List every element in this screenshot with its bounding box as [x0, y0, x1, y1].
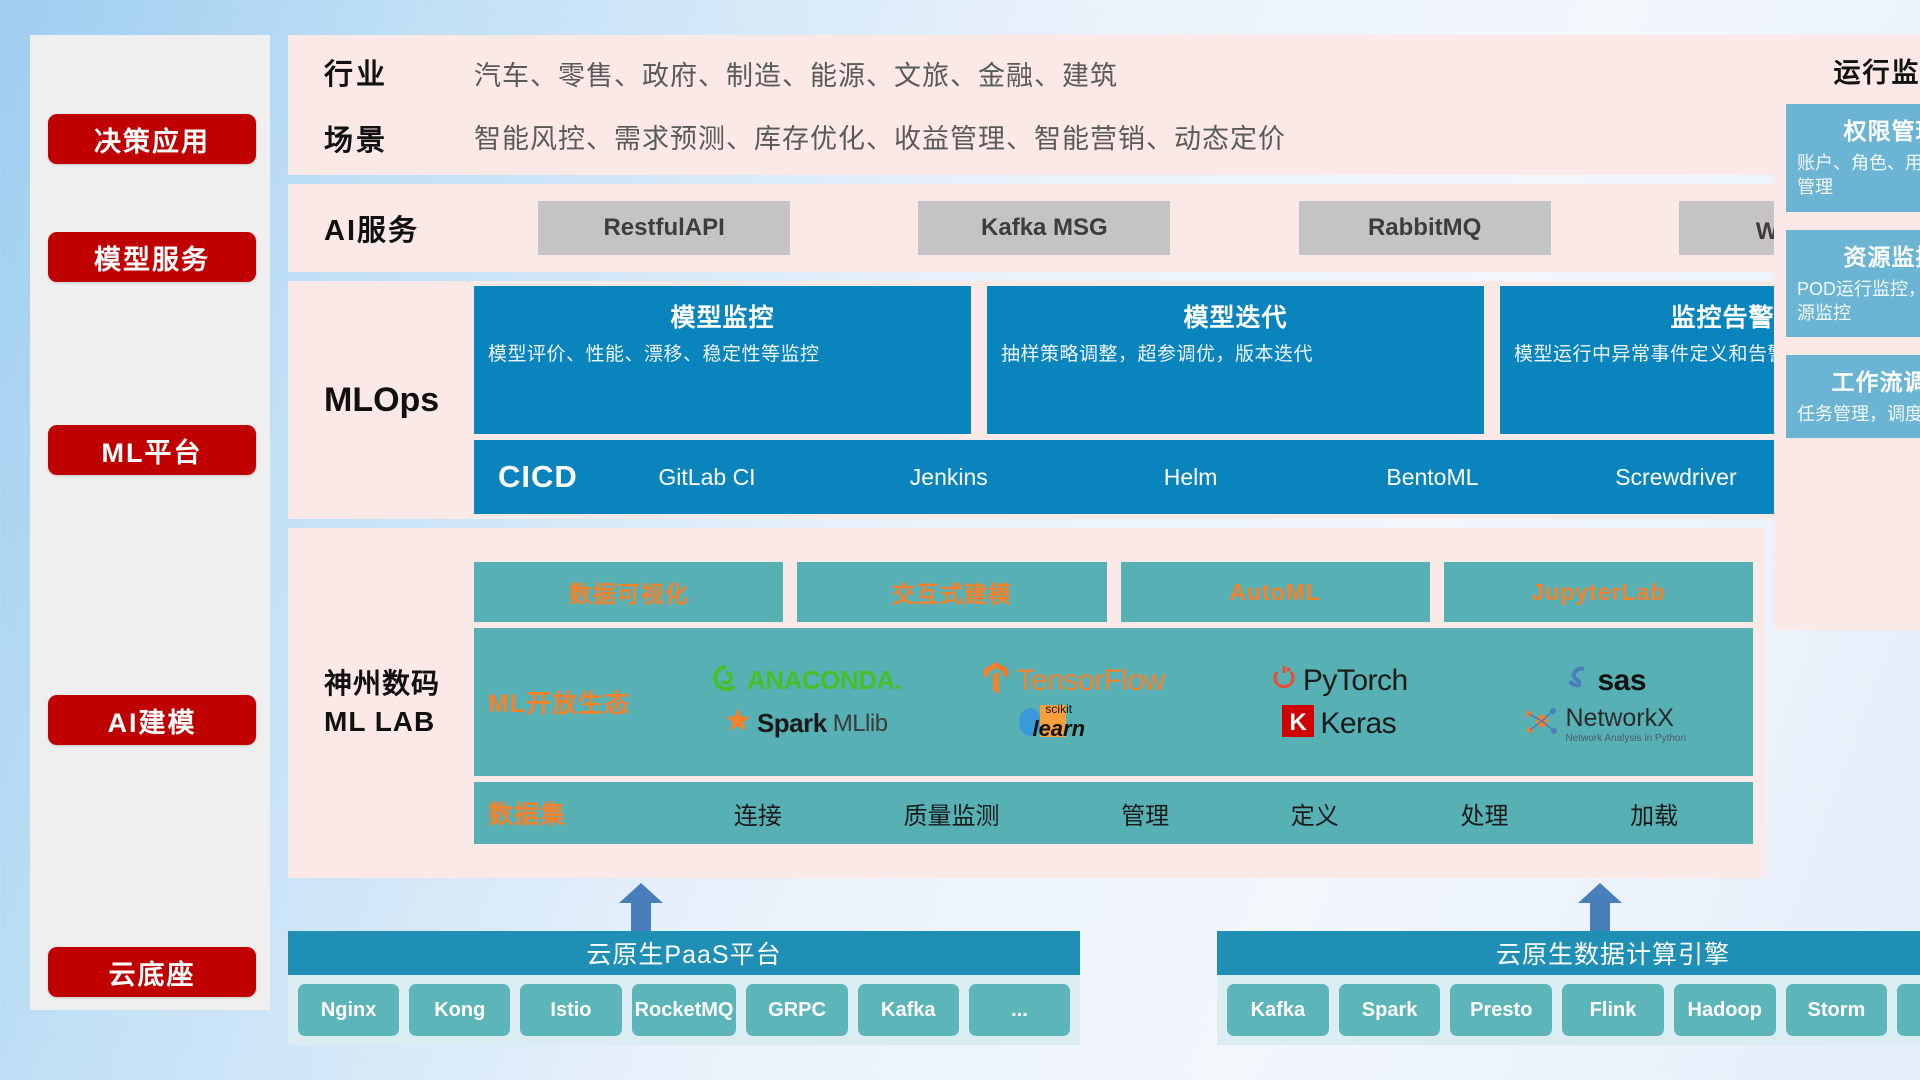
cicd-item-gitlab-ci[interactable]: GitLab CI: [648, 464, 766, 490]
logo-label: MLlib: [833, 710, 888, 738]
logo-label: PyTorch: [1303, 664, 1408, 698]
cicd-item-jenkins[interactable]: Jenkins: [890, 464, 1008, 490]
chip-label: Kafka: [881, 999, 935, 1021]
mlops-card-title: 模型迭代: [1001, 298, 1470, 334]
keras-icon: K: [1282, 705, 1314, 742]
dataset-item-process[interactable]: 处理: [1460, 796, 1508, 831]
layer-rail: 决策应用 模型服务 ML平台 AI建模 云底座: [30, 35, 270, 1010]
sas-icon: [1565, 663, 1591, 698]
monitor-card-desc: 任务管理，调度，监控: [1797, 402, 1920, 426]
logo-keras: K Keras: [1282, 705, 1396, 742]
engine-chip-presto[interactable]: Presto: [1450, 984, 1552, 1036]
cicd-item-screwdriver[interactable]: Screwdriver: [1615, 464, 1733, 490]
monitor-card-desc: 账户、角色、用户组等管理: [1797, 151, 1920, 200]
scenario-value: 智能风控、需求预测、库存优化、收益管理、智能营销、动态定价: [474, 117, 1286, 156]
logo-prefix: scikit: [1045, 702, 1072, 716]
paas-chip-grpc[interactable]: GRPC: [746, 984, 847, 1036]
ai-service-button-rabbitmq[interactable]: RabbitMQ: [1299, 201, 1551, 255]
logo-label: learn: [1032, 716, 1085, 742]
monitor-card-permission[interactable]: 权限管理 账户、角色、用户组等管理: [1786, 104, 1920, 212]
ai-btn-label: RestfulAPI: [603, 214, 724, 242]
paas-title: 云原生PaaS平台: [288, 931, 1080, 975]
rail-item-model-service[interactable]: 模型服务: [48, 232, 256, 282]
rail-item-cloud-base[interactable]: 云底座: [48, 947, 256, 997]
engine-chip-kafka[interactable]: Kafka: [1227, 984, 1329, 1036]
industry-label: 行业: [324, 51, 474, 93]
engine-title: 云原生数据计算引擎: [1217, 931, 1920, 975]
paas-chip-rocketmq[interactable]: RocketMQ: [632, 984, 737, 1036]
chip-label: GRPC: [768, 999, 826, 1021]
ml-ecosystem-label: ML开放生态: [488, 684, 673, 720]
cicd-item-helm[interactable]: Helm: [1132, 464, 1250, 490]
anaconda-icon: [711, 663, 741, 698]
monitor-card-title: 工作流调度: [1797, 363, 1920, 397]
ai-service-section: AI服务 RestfulAPI Kafka MSG RabbitMQ Web服务: [288, 184, 1920, 272]
industry-value: 汽车、零售、政府、制造、能源、文旅、金融、建筑: [474, 54, 1286, 93]
rail-label: ML平台: [102, 431, 203, 470]
chip-label: Flink: [1590, 999, 1637, 1021]
up-arrow-paas-icon: [618, 883, 664, 929]
paas-platform-block: 云原生PaaS平台 Nginx Kong Istio RocketMQ GRPC…: [288, 931, 1080, 1045]
mlops-card-title: 模型监控: [488, 298, 957, 334]
ai-btn-label: RabbitMQ: [1368, 214, 1481, 242]
paas-chip-more[interactable]: ...: [969, 984, 1070, 1036]
logo-label: Keras: [1320, 707, 1396, 741]
dataset-item-connect[interactable]: 连接: [734, 796, 782, 831]
logo-label: sas: [1597, 664, 1646, 698]
engine-chip-storm[interactable]: Storm: [1786, 984, 1888, 1036]
engine-chip-hadoop[interactable]: Hadoop: [1674, 984, 1776, 1036]
ai-service-button-kafka-msg[interactable]: Kafka MSG: [918, 201, 1170, 255]
logo-prefix: Spark: [757, 708, 827, 739]
tool-chip-automl[interactable]: AutoML: [1121, 562, 1430, 622]
tool-chip-label: 交互式建模: [892, 575, 1012, 609]
mlops-card-model-monitoring[interactable]: 模型监控 模型评价、性能、漂移、稳定性等监控: [474, 286, 971, 434]
logo-label: TensorFlow: [1017, 664, 1165, 698]
engine-chip-spark[interactable]: Spark: [1339, 984, 1441, 1036]
mlops-panel: MLOps 模型监控 模型评价、性能、漂移、稳定性等监控 模型迭代 抽样策略调整…: [288, 281, 1920, 519]
logo-tensorflow: TensorFlow: [981, 661, 1165, 700]
dataset-item-quality-monitor[interactable]: 质量监测: [903, 796, 999, 831]
cicd-title: CICD: [498, 459, 648, 495]
chip-label: Presto: [1470, 999, 1532, 1021]
chip-label: Spark: [1362, 999, 1418, 1021]
logo-spark-mllib: Spark MLlib: [725, 708, 888, 739]
engine-chip-more[interactable]: ...: [1897, 984, 1920, 1036]
monitor-card-title: 权限管理: [1797, 112, 1920, 146]
tool-chip-interactive-modeling[interactable]: 交互式建模: [797, 562, 1106, 622]
cloud-base-section: 云原生PaaS平台 Nginx Kong Istio RocketMQ GRPC…: [288, 887, 1920, 1045]
chip-label: Istio: [550, 999, 591, 1021]
ml-platform-section: MLOps 模型监控 模型评价、性能、漂移、稳定性等监控 模型迭代 抽样策略调整…: [288, 281, 1920, 519]
ml-ecosystem-band: ML开放生态 ANACONDA.: [474, 628, 1753, 776]
chip-label: RocketMQ: [635, 999, 734, 1021]
decision-applications-section: 行业 场景 汽车、零售、政府、制造、能源、文旅、金融、建筑 智能风控、需求预测、…: [288, 35, 1920, 175]
ml-lab-label: 神州数码 ML LAB: [324, 665, 474, 741]
paas-chip-istio[interactable]: Istio: [520, 984, 621, 1036]
monitor-title: 运行监控: [1786, 51, 1920, 90]
runtime-monitor-panel: 运行监控 权限管理 账户、角色、用户组等管理 资源监控 POD运行监控，K8S资…: [1774, 35, 1920, 630]
logo-pytorch: PyTorch: [1271, 663, 1408, 698]
ai-service-label: AI服务: [324, 207, 474, 249]
cicd-bar: CICD GitLab CI Jenkins Helm BentoML Scre…: [474, 440, 1920, 514]
chip-label: Kafka: [1251, 999, 1305, 1021]
paas-chip-kafka[interactable]: Kafka: [858, 984, 959, 1036]
monitor-card-title: 资源监控: [1797, 238, 1920, 272]
dataset-band: 数据集 连接 质量监测 管理 定义 处理 加载: [474, 782, 1753, 844]
logo-networkx: NetworkX Network Analysis in Python: [1525, 704, 1686, 744]
scenario-label: 场景: [324, 117, 474, 159]
logo-scikit-learn: scikit learn: [1016, 702, 1129, 745]
chip-label: Kong: [434, 999, 485, 1021]
ai-modeling-section: 神州数码 ML LAB 数据可视化 交互式建模 AutoML JupyterLa…: [288, 528, 1920, 878]
dataset-label: 数据集: [488, 795, 673, 831]
dataset-item-load[interactable]: 加载: [1630, 796, 1678, 831]
cicd-item-bentoml[interactable]: BentoML: [1373, 464, 1491, 490]
data-engine-block: 云原生数据计算引擎 Kafka Spark Presto Flink Hadoo…: [1217, 931, 1920, 1045]
chip-label: Hadoop: [1688, 999, 1762, 1021]
tool-chip-label: 数据可视化: [569, 575, 689, 609]
dataset-item-define[interactable]: 定义: [1291, 796, 1339, 831]
mlops-card-desc: 抽样策略调整，超参调优，版本迭代: [1001, 342, 1470, 368]
logo-anaconda: ANACONDA.: [711, 663, 901, 698]
paas-chip-kong[interactable]: Kong: [409, 984, 510, 1036]
chip-label: Storm: [1808, 999, 1866, 1021]
paas-chip-nginx[interactable]: Nginx: [298, 984, 399, 1036]
rail-item-ai-modeling[interactable]: AI建模: [48, 695, 256, 745]
chip-label: Nginx: [321, 999, 377, 1021]
mlops-card-model-iteration[interactable]: 模型迭代 抽样策略调整，超参调优，版本迭代: [987, 286, 1484, 434]
ai-btn-label: Kafka MSG: [981, 214, 1108, 242]
pytorch-icon: [1271, 663, 1297, 698]
architecture-diagram: 决策应用 模型服务 ML平台 AI建模 云底座 行业 场景 汽车、零售、政府、制…: [30, 35, 1895, 1045]
tool-chip-data-visualization[interactable]: 数据可视化: [474, 562, 783, 622]
rail-label: 云底座: [109, 953, 196, 992]
networkx-icon: [1525, 706, 1559, 741]
engine-chip-flink[interactable]: Flink: [1562, 984, 1664, 1036]
rail-item-ml-platform[interactable]: ML平台: [48, 425, 256, 475]
chip-label: ...: [1011, 999, 1028, 1021]
rail-label: 决策应用: [94, 120, 210, 159]
tool-chip-label: AutoML: [1229, 579, 1321, 606]
logo-label: NetworkX: [1565, 704, 1686, 733]
monitor-card-resource[interactable]: 资源监控 POD运行监控，K8S资源监控: [1786, 230, 1920, 338]
ml-lab-label-line1: 神州数码: [324, 665, 474, 703]
ai-service-button-restfulapi[interactable]: RestfulAPI: [538, 201, 790, 255]
logo-sublabel: Network Analysis in Python: [1565, 733, 1686, 744]
mlops-label: MLOps: [324, 381, 474, 420]
main-column: 行业 场景 汽车、零售、政府、制造、能源、文旅、金融、建筑 智能风控、需求预测、…: [288, 35, 1920, 1045]
tool-chip-jupyterlab[interactable]: JupyterLab: [1444, 562, 1753, 622]
tool-chip-label: JupyterLab: [1531, 579, 1665, 606]
dataset-item-manage[interactable]: 管理: [1121, 796, 1169, 831]
tensorflow-icon: [981, 661, 1011, 700]
mlops-card-desc: 模型评价、性能、漂移、稳定性等监控: [488, 342, 957, 368]
ml-lab-panel: 神州数码 ML LAB 数据可视化 交互式建模 AutoML JupyterLa…: [288, 528, 1765, 878]
up-arrow-engine-icon: [1577, 883, 1623, 929]
rail-label: AI建模: [108, 701, 197, 740]
monitor-card-workflow[interactable]: 工作流调度 任务管理，调度，监控: [1786, 355, 1920, 438]
spark-icon: [725, 708, 751, 739]
ml-lab-label-line2: ML LAB: [324, 703, 474, 741]
logo-sas: sas: [1565, 663, 1646, 698]
logo-label: ANACONDA.: [747, 665, 901, 696]
svg-text:K: K: [1290, 709, 1308, 736]
rail-label: 模型服务: [94, 238, 210, 277]
monitor-card-desc: POD运行监控，K8S资源监控: [1797, 277, 1920, 326]
rail-item-decision-apps[interactable]: 决策应用: [48, 114, 256, 164]
